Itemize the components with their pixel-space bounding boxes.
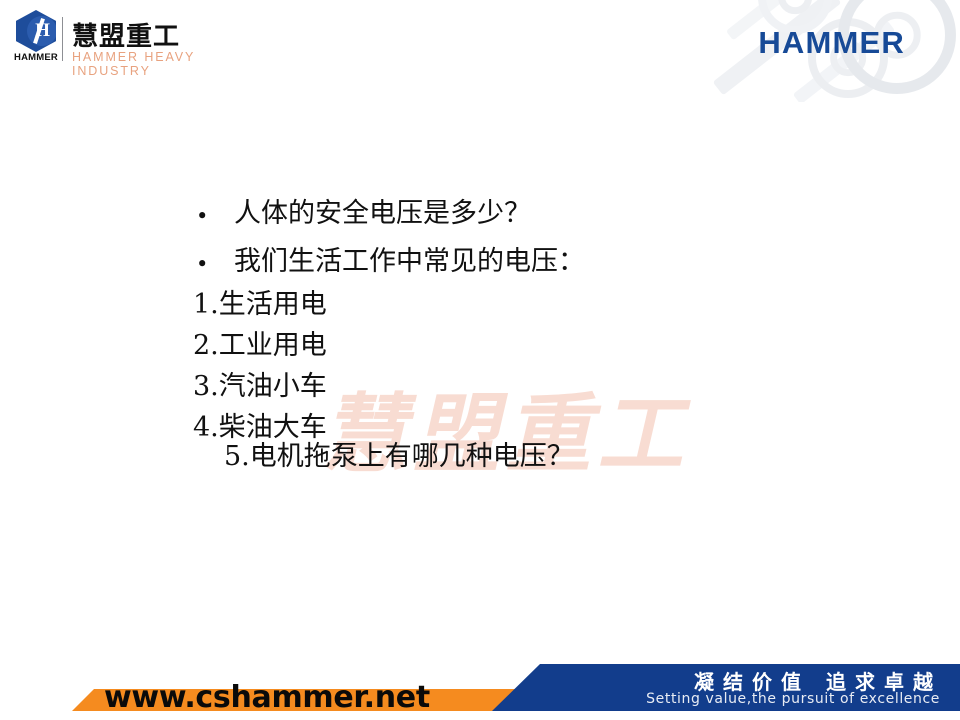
bullet-marker-1: •: [196, 199, 234, 233]
numbered-item-5: 5.电机拖泵上有哪几种电压？: [224, 442, 574, 472]
company-name-en: HAMMER HEAVY INDUSTRY: [72, 50, 254, 78]
numbered-text-2: 工业用电: [219, 330, 327, 361]
numbered-marker-3: 3.: [193, 371, 219, 402]
numbered-item-1: 1.生活用电: [193, 290, 327, 320]
hexagon-shape: H: [16, 10, 56, 52]
numbered-marker-4: 4.: [193, 412, 219, 443]
company-logo: H HAMMER 慧盟重工 HAMMER HEAVY INDUSTRY: [4, 8, 254, 66]
numbered-marker-5: 5.: [224, 441, 250, 472]
website-url[interactable]: www.cshammer.net: [104, 680, 430, 715]
brand-wordmark: HAMMER: [758, 25, 905, 61]
bullet-text-2: 我们生活工作中常见的电压：: [234, 246, 585, 277]
numbered-item-2: 2.工业用电: [193, 331, 327, 361]
bullet-marker-2: •: [196, 247, 234, 281]
logo-mark-label: HAMMER: [10, 52, 62, 63]
numbered-text-5: 电机拖泵上有哪几种电压？: [250, 441, 574, 472]
hammer-hexagon-logo-icon: H HAMMER: [10, 10, 62, 65]
slogan-en: Setting value,the pursuit of excellence: [646, 691, 940, 707]
numbered-text-3: 汽油小车: [219, 371, 327, 402]
company-name-cn: 慧盟重工: [72, 16, 180, 53]
slide-header: HAMMER H HAMMER 慧盟重工 HAMMER HEAVY INDUST…: [0, 0, 960, 95]
bullet-item-1: •人体的安全电压是多少？: [196, 199, 531, 233]
numbered-marker-1: 1.: [193, 289, 219, 320]
bullet-item-2: •我们生活工作中常见的电压：: [196, 247, 585, 281]
bullet-text-1: 人体的安全电压是多少？: [234, 198, 531, 229]
presentation-slide: HAMMER H HAMMER 慧盟重工 HAMMER HEAVY INDUST…: [0, 0, 960, 720]
numbered-text-4: 柴油大车: [219, 412, 327, 443]
slide-footer: www.cshammer.net 凝结价值 追求卓越 Setting value…: [0, 656, 960, 720]
slide-content: 慧盟重工 •人体的安全电压是多少？ •我们生活工作中常见的电压： 1.生活用电 …: [0, 96, 960, 656]
numbered-item-3: 3.汽油小车: [193, 372, 327, 402]
logo-divider: [62, 17, 63, 61]
numbered-text-1: 生活用电: [219, 289, 327, 320]
hexagon-letter-glyph: H: [33, 19, 52, 42]
numbered-item-4: 4.柴油大车: [193, 413, 327, 443]
numbered-marker-2: 2.: [193, 330, 219, 361]
